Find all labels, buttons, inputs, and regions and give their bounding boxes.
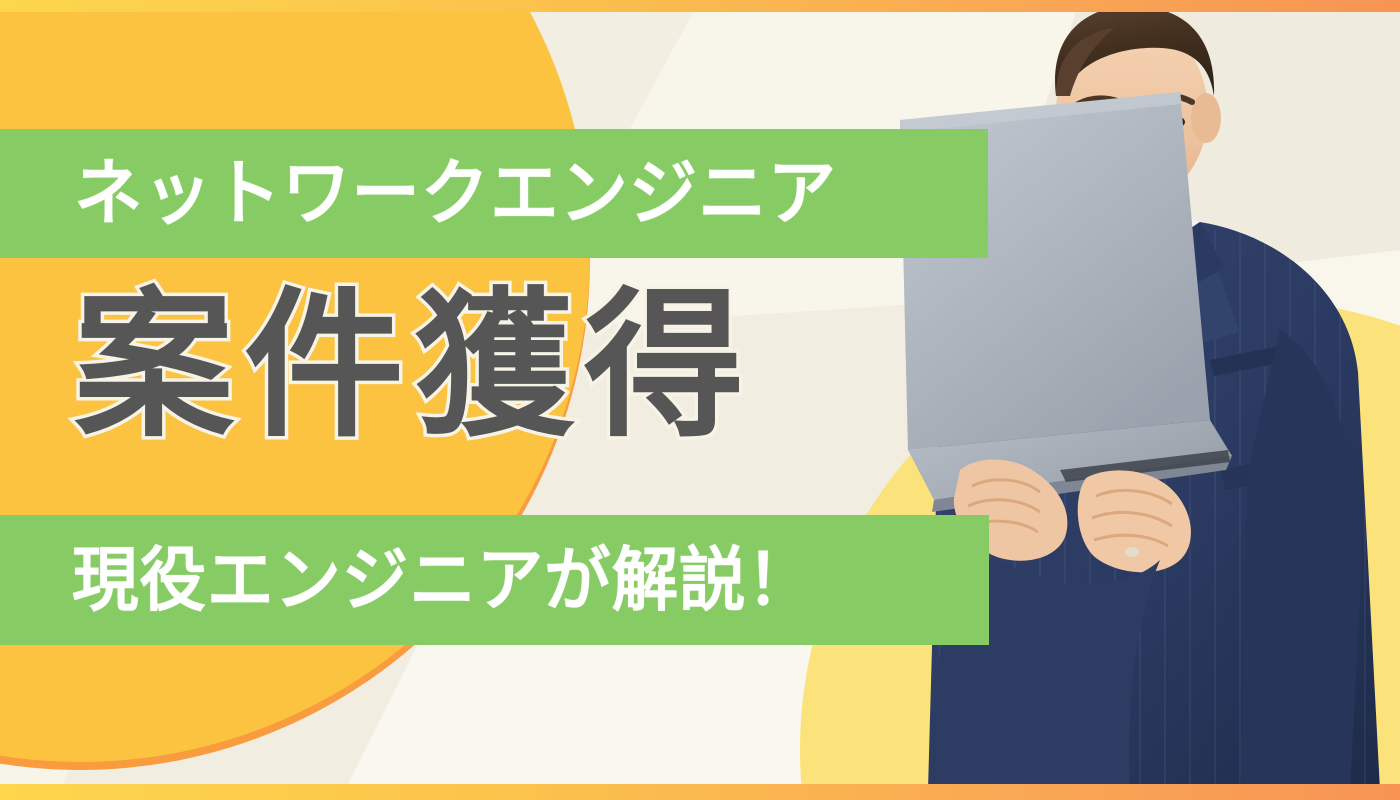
banner-bottom-label: 現役エンジニアが解説！	[72, 545, 814, 615]
businessman-photo	[880, 0, 1400, 790]
bottom-accent-bar	[0, 784, 1400, 800]
banner-top-label: ネットワークエンジニア	[74, 158, 837, 230]
top-accent-bar	[0, 0, 1400, 12]
thumbnail-canvas: ネットワークエンジニア 案件獲得 現役エンジニアが解説！	[0, 0, 1400, 800]
headline: 案件獲得	[74, 286, 754, 446]
headline-text: 案件獲得	[74, 286, 754, 446]
banner-bottom: 現役エンジニアが解説！	[0, 515, 989, 645]
banner-top: ネットワークエンジニア	[0, 129, 988, 258]
